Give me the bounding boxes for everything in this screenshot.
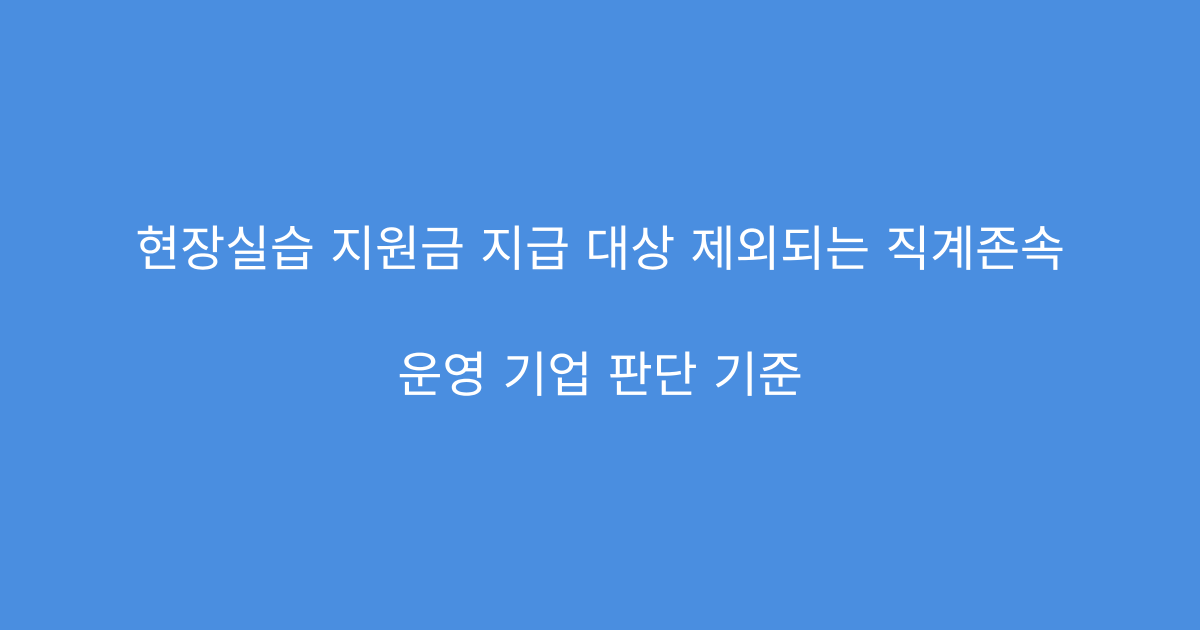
og-share-card: 현장실습 지원금 지급 대상 제외되는 직계존속 운영 기업 판단 기준 bbox=[0, 0, 1200, 630]
page-title-line-1: 현장실습 지원금 지급 대상 제외되는 직계존속 bbox=[80, 218, 1120, 281]
card-content-wrapper: 현장실습 지원금 지급 대상 제외되는 직계존속 운영 기업 판단 기준 bbox=[80, 155, 1120, 470]
page-title-line-2: 운영 기업 판단 기준 bbox=[80, 344, 1120, 407]
page-title: 현장실습 지원금 지급 대상 제외되는 직계존속 운영 기업 판단 기준 bbox=[80, 155, 1120, 470]
